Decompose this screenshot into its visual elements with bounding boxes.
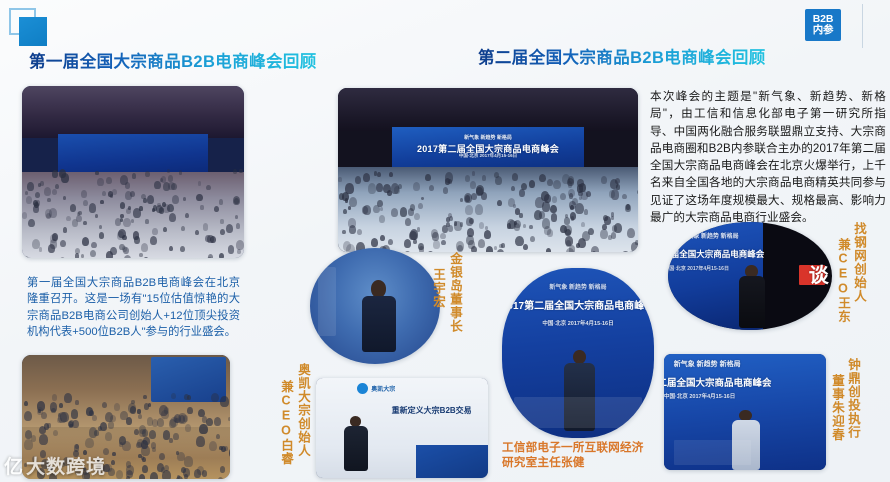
photo-speaker-bairui: 奥凯大宗 重新定义大宗B2B交易 (316, 378, 488, 478)
watermark-logo: 亿 (4, 452, 23, 479)
audience-dots (338, 88, 638, 252)
aokai-slogan: 重新定义大宗B2B交易 (392, 405, 472, 416)
photo-speaker-zhuyingchun: 新气象 新趋势 新格局 二届全国大宗商品电商峰会 中国·北京 2017年4月15… (664, 354, 826, 470)
caption-first-summit: 第一届全国大宗商品B2B电商峰会在北京隆重召开。这是一场有"15位估值惊艳的大宗… (27, 275, 240, 341)
label-aokai-title: 奥凯大宗创始人 (295, 363, 311, 458)
page-title-right: 第二届全国大宗商品B2B电商峰会回顾 (478, 44, 766, 68)
badge-line-2: 内参 (813, 25, 834, 36)
aokai-logo-text: 奥凯大宗 (371, 384, 395, 393)
audience-dots (22, 355, 230, 479)
stage-banner-main: 2017第二届全国大宗商品电商峰会 (502, 297, 654, 312)
photo-inner (22, 86, 244, 258)
stage-banner-main-partial: 二届全国大宗商品电商峰会 (664, 375, 772, 389)
stage-banner-sub-partial: 中国·北京 2017年4月15-16日 (668, 265, 729, 272)
stage-tan-character: 谈 (809, 259, 829, 288)
stage-banner-main-partial: 二届全国大宗商品电商峰会 (668, 248, 764, 260)
label-jinyindao-name: 王宇宏 (430, 268, 446, 309)
sponsor-strip (674, 440, 752, 466)
photo-inner: 新气象 新趋势 新格局 2017第二届全国大宗商品电商峰会 中国·北京 2017… (502, 268, 654, 438)
audience-dots (22, 86, 244, 258)
photo-speaker-zhangjian: 新气象 新趋势 新格局 2017第二届全国大宗商品电商峰会 中国·北京 2017… (502, 268, 654, 438)
slide-canvas: B2B 内参 第一届全国大宗商品B2B电商峰会回顾 第二届全国大宗商品B2B电商… (0, 0, 890, 482)
speaker-figure (362, 280, 396, 352)
label-zhaogang-name: 兼CEO王东 (835, 238, 851, 324)
stage-theme-text: 新气象 新趋势 新格局 (674, 359, 741, 369)
photo-speaker-wangdong: 新气象 新趋势 新格局 二届全国大宗商品电商峰会 中国·北京 2017年4月15… (668, 222, 832, 330)
aokai-logo-group: 奥凯大宗 (357, 383, 395, 394)
summary-paragraph: 本次峰会的主题是"新气象、新趋势、新格局"，由工信和信息化部电子第一研究所指导、… (650, 88, 886, 226)
photo-inner (310, 248, 440, 364)
aokai-logo-mark (357, 383, 368, 394)
speaker-figure (739, 265, 765, 328)
photo-inner: 奥凯大宗 重新定义大宗B2B交易 (316, 378, 488, 478)
caption-zhangjian: 工信部电子一所互联网经济研究室主任张健 (502, 440, 654, 470)
label-zhaogang-title: 找钢网创始人 (851, 222, 867, 303)
slide-panel (416, 445, 488, 478)
photo-first-summit-audience (22, 355, 230, 479)
sponsor-strip (514, 397, 642, 428)
photo-speaker-wangyuhong (310, 248, 440, 364)
speaker-figure (344, 416, 368, 471)
photo-first-summit-hall (22, 86, 244, 258)
badge-divider (862, 4, 863, 48)
label-zhongding-name: 董事朱迎春 (829, 374, 845, 442)
stage-banner-sub-partial: 中国·北京 2017年4月15-16日 (664, 392, 735, 400)
label-jinyindao-title: 金银岛董事长 (447, 252, 463, 333)
stage-theme-text: 新气象 新趋势 新格局 (681, 231, 738, 240)
photo-second-summit-hall: 新气象 新趋势 新格局 2017第二届全国大宗商品电商峰会 中国·北京 2017… (338, 88, 638, 252)
decor-square-solid (19, 17, 47, 46)
photo-inner (22, 355, 230, 479)
b2b-neican-badge: B2B 内参 (805, 9, 841, 41)
stage-light (318, 267, 336, 337)
page-title-left: 第一届全国大宗商品B2B电商峰会回顾 (29, 48, 317, 72)
label-aokai-name: 兼CEO白睿 (278, 380, 294, 466)
stage-banner-sub: 中国·北京 2017年4月15-16日 (542, 319, 613, 327)
photo-inner: 新气象 新趋势 新格局 2017第二届全国大宗商品电商峰会 中国·北京 2017… (338, 88, 638, 252)
photo-inner: 新气象 新趋势 新格局 二届全国大宗商品电商峰会 中国·北京 2017年4月15… (668, 222, 832, 330)
stage-theme-text: 新气象 新趋势 新格局 (549, 282, 606, 291)
photo-inner: 新气象 新趋势 新格局 二届全国大宗商品电商峰会 中国·北京 2017年4月15… (664, 354, 826, 470)
label-zhongding-title: 钟鼎创投执行 (845, 358, 861, 439)
